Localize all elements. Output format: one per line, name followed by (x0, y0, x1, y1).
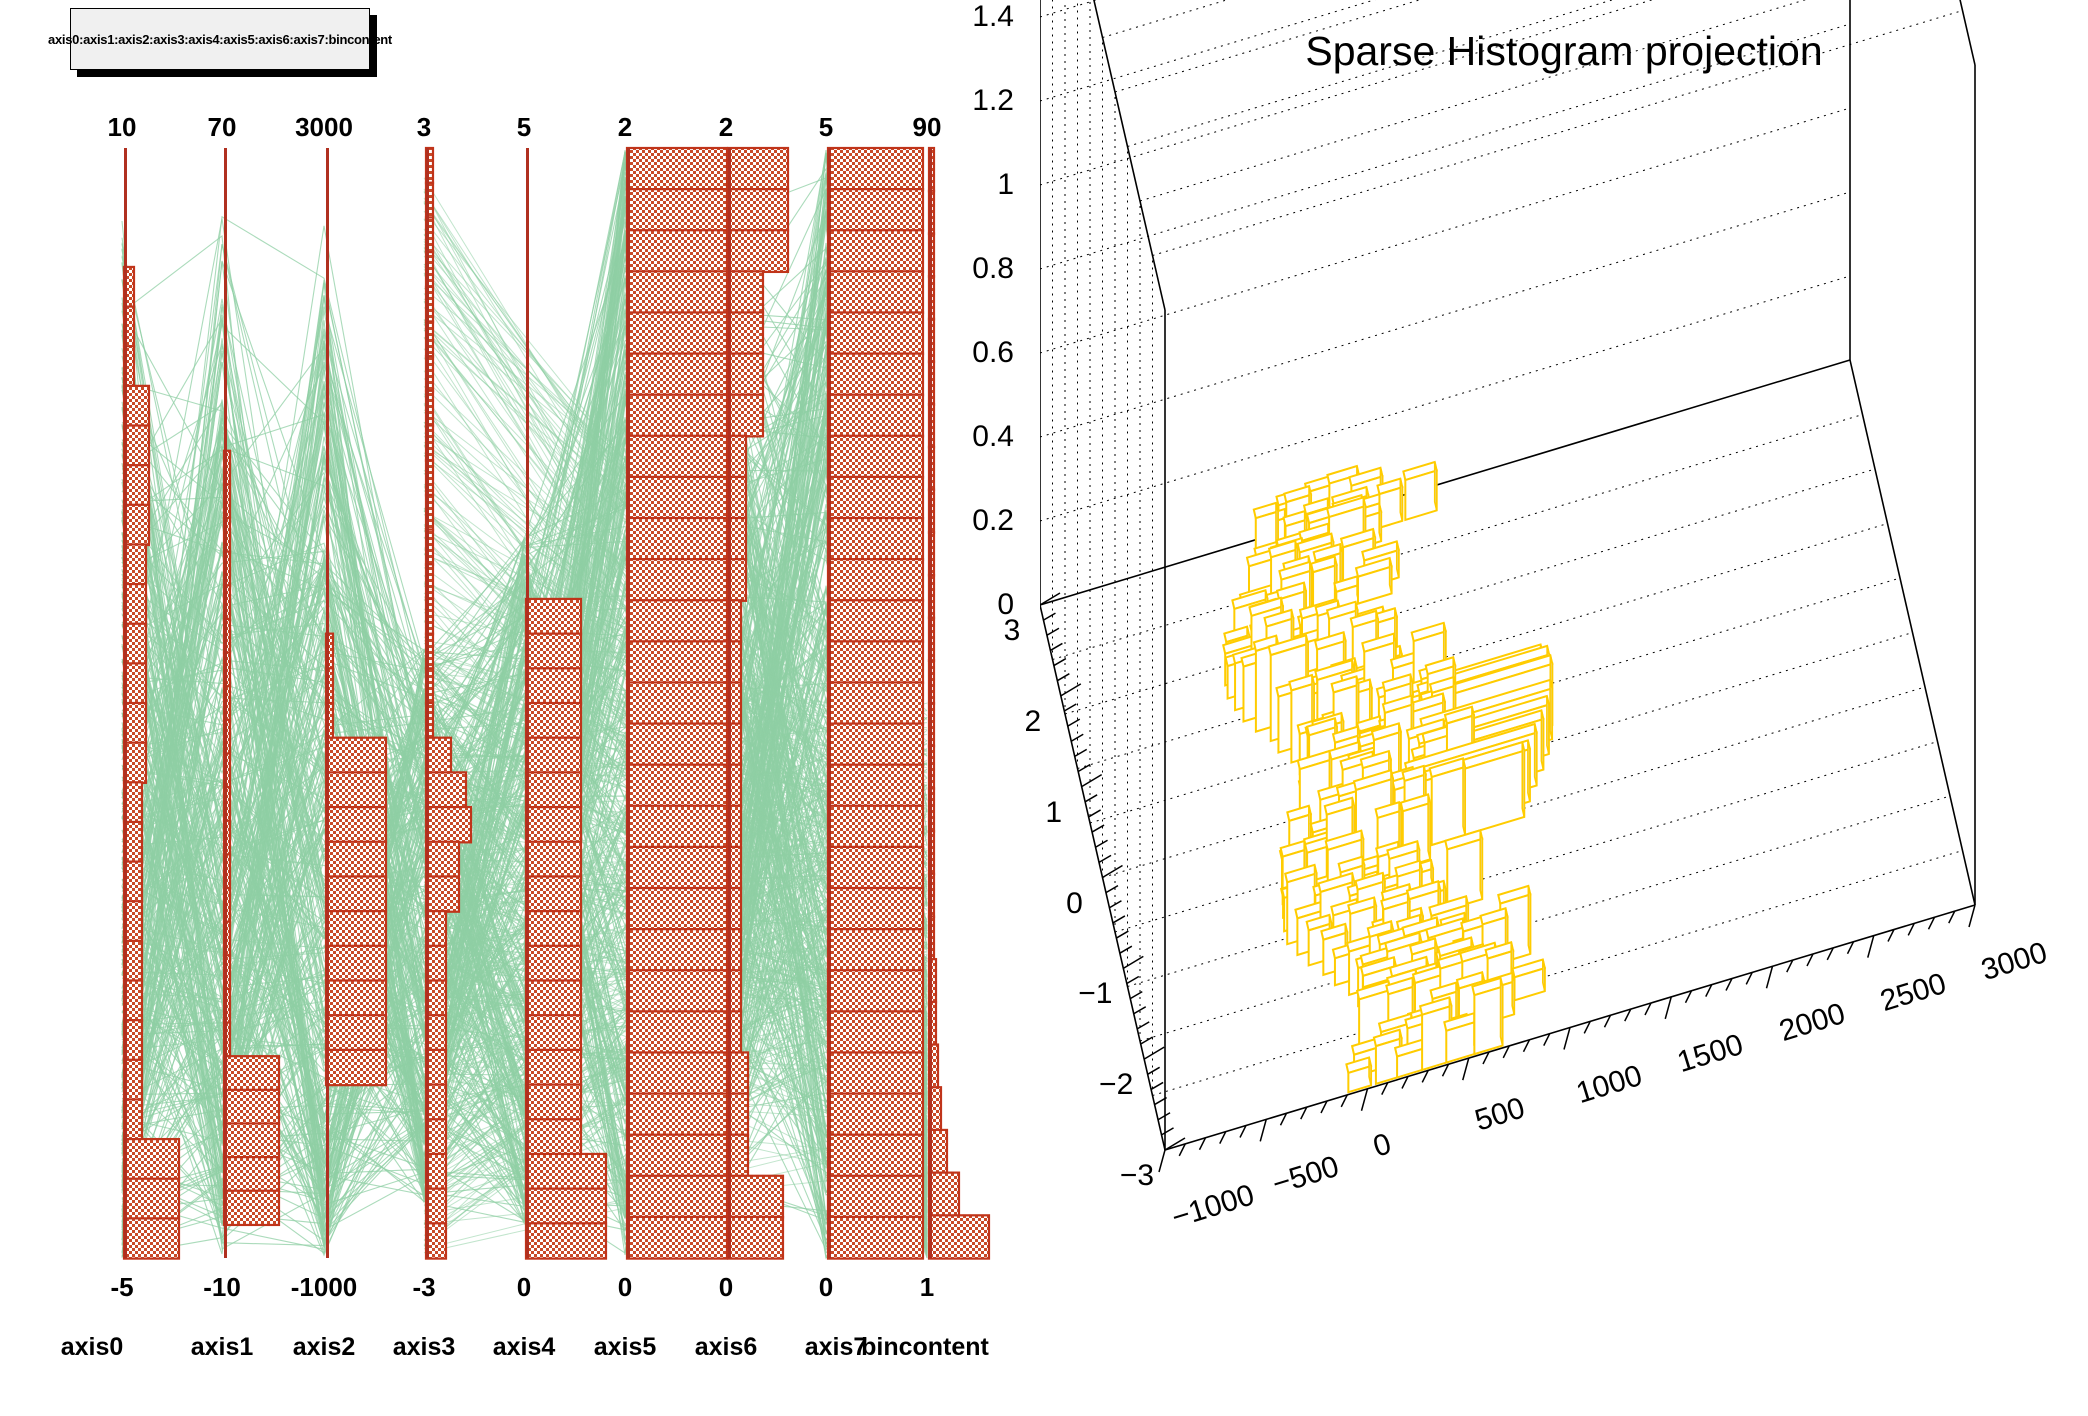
z-tick-label-7: 0.6 (972, 336, 1014, 370)
x-tick (1665, 997, 1671, 1019)
grid-line-3d (1153, 851, 1963, 1096)
sparse-histogram-3d-pad: Sparse Histogram projection 21.81.61.41.… (1040, 0, 2088, 1416)
histogram-bin (728, 230, 788, 272)
y-tick (1120, 946, 1132, 953)
y-tick (1127, 976, 1139, 983)
histogram-bin (526, 876, 581, 911)
y-tick (1075, 749, 1087, 756)
histogram-bin (627, 600, 727, 642)
histogram-bin (627, 929, 727, 971)
lego-box (1472, 978, 1502, 1054)
histogram-bin (326, 772, 386, 807)
histogram-bin (124, 505, 149, 545)
histogram-bin (828, 682, 923, 724)
y-tick (1078, 765, 1090, 772)
histogram-bin (627, 682, 727, 724)
y-tick (1092, 825, 1104, 832)
histogram-bin (828, 1094, 923, 1136)
histogram-bin (627, 847, 727, 889)
histogram-bin (326, 738, 386, 773)
histogram-bin (124, 663, 146, 703)
histogram-bin (526, 842, 581, 877)
histogram-bin (728, 395, 763, 437)
histogram-bin (627, 641, 727, 683)
x-tick (1159, 1150, 1165, 1172)
histogram-bin (326, 911, 386, 946)
grid-line-3d (1140, 0, 1950, 201)
histogram-bin (526, 1154, 606, 1189)
histogram-bin (828, 395, 923, 437)
z-tick-label-4: 1.2 (972, 84, 1014, 118)
z-tick-label-6: 0.8 (972, 252, 1014, 286)
grid-line-3d (1103, 0, 1913, 38)
axis-name-axis7[interactable]: axis7 (805, 1333, 868, 1362)
grid-line-3d (1053, 415, 1863, 660)
x-tick (1868, 936, 1874, 958)
histogram-bin (526, 738, 581, 773)
histogram-bin (929, 1215, 989, 1258)
histogram-bin (326, 946, 386, 981)
histogram-bin (828, 518, 923, 560)
histogram-bin (526, 634, 581, 669)
axis-name-bincontent[interactable]: bincontent (861, 1333, 989, 1362)
histogram-bin (627, 354, 727, 396)
axis-top-label-axis4: 5 (517, 112, 531, 143)
parallel-coordinates-canvas (0, 0, 1040, 1416)
y-tick (1148, 1067, 1160, 1074)
y-tick (1082, 775, 1102, 787)
histogram-bin (627, 970, 727, 1012)
histogram-bin (828, 724, 923, 766)
y-tick (1165, 1138, 1185, 1150)
axis-bottom-label-axis3: -3 (412, 1272, 435, 1303)
histogram-bin (124, 1218, 179, 1258)
histogram-bin (124, 624, 146, 664)
histogram-bin (828, 1217, 923, 1259)
y-tick (1116, 931, 1128, 938)
grid-line-3d (1040, 0, 1850, 17)
histogram-bin (627, 271, 727, 313)
histogram-bin (828, 847, 923, 889)
histogram-bin (828, 806, 923, 848)
y-tick (1089, 810, 1101, 817)
axis-name-axis0[interactable]: axis0 (61, 1333, 124, 1362)
axis-top-label-axis7: 5 (819, 112, 833, 143)
y-tick (1096, 840, 1108, 847)
histogram-bin (627, 1217, 727, 1259)
histogram-bin (828, 436, 923, 478)
grid-line-3d (1115, 0, 1925, 92)
histogram-bin (526, 668, 581, 703)
y-tick-label-2: 1 (1045, 796, 1062, 830)
y-tick (1137, 1022, 1149, 1029)
y-tick-label-5: −2 (1099, 1068, 1133, 1102)
histogram-bin (124, 1139, 179, 1179)
histogram-bin (828, 765, 923, 807)
x-tick (1362, 1089, 1368, 1111)
histogram-bin (326, 1015, 386, 1050)
histogram-bin (124, 1179, 179, 1219)
axis-top-label-axis3: 3 (417, 112, 431, 143)
y-tick (1141, 1037, 1153, 1044)
axis-bottom-label-axis2: -1000 (291, 1272, 358, 1303)
histogram-bin (828, 1011, 923, 1053)
histogram-bin (828, 888, 923, 930)
grid-line-3d (1040, 0, 1850, 185)
histogram-bin (828, 929, 923, 971)
y-tick (1109, 901, 1121, 908)
axis-top-label-axis5: 2 (618, 112, 632, 143)
grid-line-3d (1040, 108, 1850, 353)
histogram-bin (828, 354, 923, 396)
lego-box (1346, 1057, 1371, 1092)
histogram-bin (627, 888, 727, 930)
axis-bottom-label-axis4: 0 (517, 1272, 531, 1303)
histogram-bin (627, 395, 727, 437)
histogram-bin (526, 1085, 581, 1120)
histogram-bin (526, 703, 581, 738)
histogram-bin (828, 271, 923, 313)
histogram-bin (627, 189, 727, 231)
axis-name-axis1[interactable]: axis1 (191, 1333, 254, 1362)
x-tick (1260, 1119, 1266, 1141)
y-tick (1043, 613, 1055, 620)
y-tick (1064, 704, 1076, 711)
axis-top-label-axis0: 10 (108, 112, 137, 143)
histogram-bin (728, 271, 763, 313)
histogram-bin (828, 189, 923, 231)
axis-name-axis2[interactable]: axis2 (293, 1333, 356, 1362)
histogram-bin (224, 1157, 279, 1191)
frame-edge-3d (1850, 0, 1975, 65)
histogram-bin (728, 312, 763, 354)
histogram-bin (526, 946, 581, 981)
histogram-bin (828, 312, 923, 354)
histogram-bin (526, 1189, 606, 1224)
z-tick-label-9: 0.2 (972, 504, 1014, 538)
x-tick (1564, 1028, 1570, 1050)
histogram-bin (828, 1052, 923, 1094)
axis-name-axis3[interactable]: axis3 (393, 1333, 456, 1362)
histogram-bin (828, 641, 923, 683)
histogram-bin (627, 806, 727, 848)
histogram-bin (526, 807, 581, 842)
x-tick (1969, 905, 1975, 927)
y-tick (1047, 628, 1059, 635)
y-tick (1057, 674, 1069, 681)
histogram-bin (627, 765, 727, 807)
histogram-bin (426, 738, 451, 773)
histogram-bin (627, 1011, 727, 1053)
histogram-bin (627, 230, 727, 272)
y-tick (1085, 795, 1097, 802)
lego-box (1430, 758, 1465, 845)
histogram-bin (929, 1173, 959, 1216)
histogram-bin (124, 465, 149, 505)
histogram-bin (426, 807, 471, 842)
z-tick-label-5: 1 (997, 168, 1014, 202)
histogram-bin (526, 1015, 581, 1050)
parallel-coordinates-pad: axis0:axis1:axis2:axis3:axis4:axis5:axis… (0, 0, 1040, 1416)
axis-bottom-label-bincontent: 1 (920, 1272, 934, 1303)
histogram-bin (526, 1050, 581, 1085)
y-tick (1106, 886, 1118, 893)
histogram-bin (426, 772, 466, 807)
axis-name-axis4[interactable]: axis4 (493, 1333, 556, 1362)
histogram-bin (828, 230, 923, 272)
axis-name-axis6[interactable]: axis6 (695, 1333, 758, 1362)
histogram-bin (728, 189, 788, 231)
histogram-bin (526, 1119, 581, 1154)
y-tick-label-3: 0 (1066, 887, 1083, 921)
y-tick-label-0: 3 (1004, 614, 1021, 648)
histogram-bin (627, 477, 727, 519)
histogram-bin (526, 772, 581, 807)
lego-box (1513, 959, 1545, 1000)
grid-line-3d (1153, 11, 1963, 256)
histogram-bin (728, 1217, 783, 1259)
histogram-bin (627, 312, 727, 354)
z-tick-label-8: 0.4 (972, 420, 1014, 454)
histogram-bin (124, 544, 146, 584)
grid-line-3d (1040, 24, 1850, 269)
histogram-bin (828, 559, 923, 601)
histogram-bin (326, 876, 386, 911)
y-tick (1040, 593, 1060, 605)
histogram-bin (828, 148, 923, 190)
histogram-bin (526, 599, 581, 634)
histogram-bin (828, 477, 923, 519)
lego-box (1444, 1013, 1476, 1062)
y-tick (1151, 1082, 1163, 1089)
histogram-bin (627, 148, 727, 190)
axis-bottom-label-axis1: -10 (203, 1272, 241, 1303)
histogram-bin (526, 1223, 606, 1258)
axis-bottom-label-axis0: -5 (110, 1272, 133, 1303)
y-tick (1054, 659, 1066, 666)
x-tick (1767, 966, 1773, 988)
axis-top-label-bincontent: 90 (913, 112, 942, 143)
y-tick (1162, 1128, 1174, 1135)
y-tick (1158, 1113, 1170, 1120)
histogram-bin (828, 1176, 923, 1218)
y-tick-label-4: −1 (1078, 977, 1112, 1011)
histogram-bin (224, 1191, 279, 1225)
histogram-bin (326, 1050, 386, 1085)
y-tick (1099, 855, 1111, 862)
axis-bottom-label-axis5: 0 (618, 1272, 632, 1303)
z-tick-label-3: 1.4 (972, 0, 1014, 34)
histogram-bin (326, 842, 386, 877)
histogram-bin (124, 743, 146, 783)
histogram-bin (627, 436, 727, 478)
y-tick-label-6: −3 (1120, 1159, 1154, 1193)
histogram-bin (124, 386, 149, 426)
histogram-bin (627, 1135, 727, 1177)
histogram-bin (627, 1052, 727, 1094)
histogram-bin (728, 354, 763, 396)
histogram-bin (728, 148, 788, 190)
histogram-bin (526, 981, 581, 1016)
histogram-bin (828, 970, 923, 1012)
axis-bottom-label-axis7: 0 (819, 1272, 833, 1303)
grid-line-3d (1040, 192, 1850, 437)
axis-bottom-label-axis6: 0 (719, 1272, 733, 1303)
histogram-bin (426, 876, 459, 911)
histogram-bin (526, 911, 581, 946)
axis-name-axis5[interactable]: axis5 (594, 1333, 657, 1362)
histogram-bin (326, 807, 386, 842)
histogram-bin (627, 559, 727, 601)
histogram-bin (224, 1056, 279, 1090)
y-tick (1103, 866, 1123, 878)
grid-line-3d (1040, 276, 1850, 521)
histogram-bin (627, 724, 727, 766)
frame-edge-3d (1040, 360, 1850, 605)
histogram-bin (124, 584, 146, 624)
histogram-bin (627, 1094, 727, 1136)
lego-boxes (1223, 462, 1552, 1092)
histogram-bin (728, 1176, 783, 1218)
axis-top-label-axis6: 2 (719, 112, 733, 143)
histogram-bin (627, 1176, 727, 1218)
y-tick (1144, 1047, 1164, 1059)
axis-top-label-axis2: 3000 (295, 112, 353, 143)
histogram-bin (426, 842, 459, 877)
histogram-bin (326, 981, 386, 1016)
histogram-bin (124, 703, 146, 743)
histogram-bin (828, 1135, 923, 1177)
histogram-bin (224, 1090, 279, 1124)
lego-box (1403, 462, 1436, 520)
grid-line-3d (1040, 0, 1850, 101)
histogram-bin (828, 600, 923, 642)
histogram-bin (224, 1123, 279, 1157)
histogram-bin (124, 426, 149, 466)
x-tick (1463, 1058, 1469, 1080)
histogram-bin (627, 518, 727, 560)
grid-line-3d (1128, 0, 1938, 147)
y-tick-label-1: 2 (1025, 705, 1042, 739)
axis-top-label-axis1: 70 (208, 112, 237, 143)
